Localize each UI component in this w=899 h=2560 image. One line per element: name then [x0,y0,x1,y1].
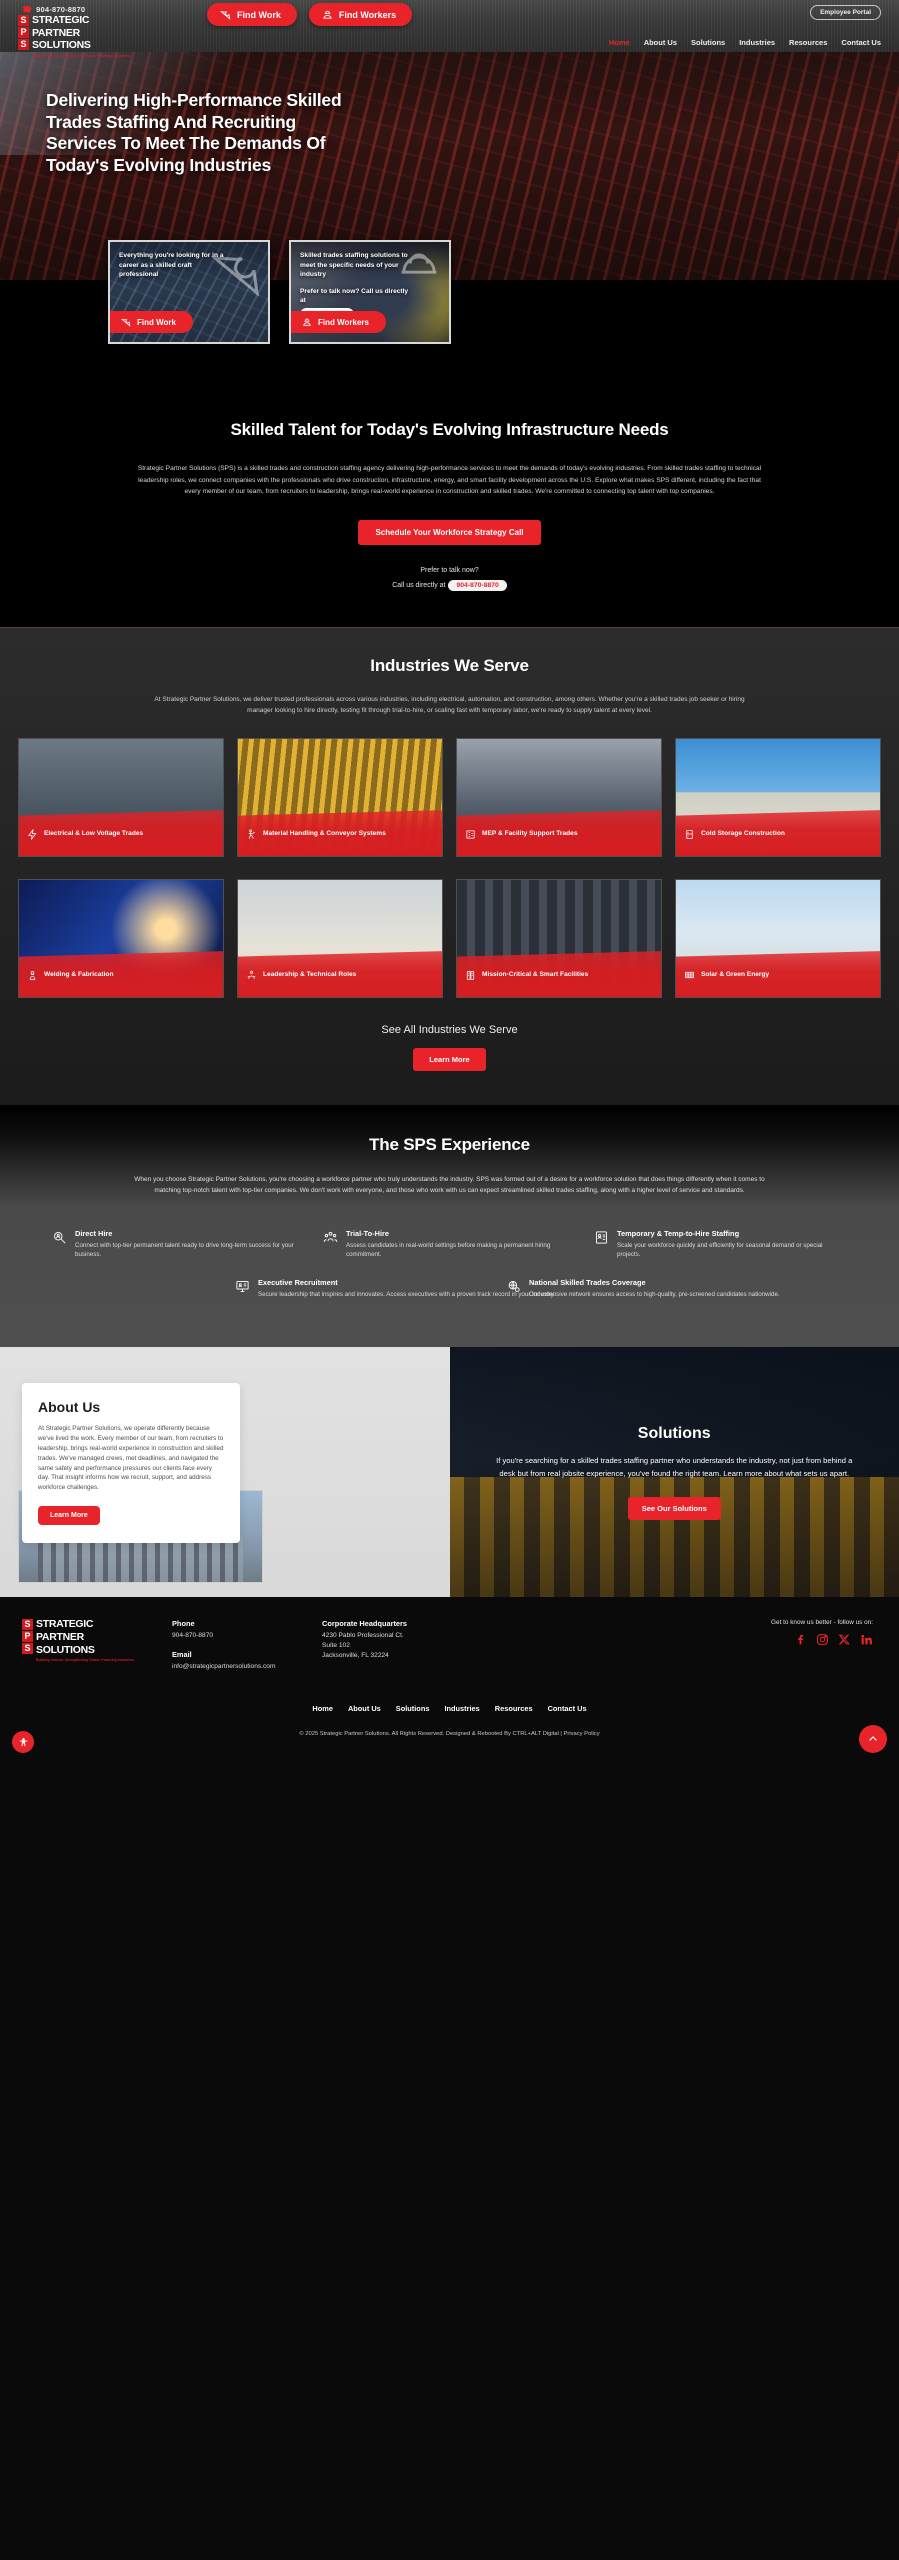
footer-logo-letter-s1: S [22,1619,33,1630]
header-phone-number: 904-870-8870 [36,5,85,14]
call-directly-label: Call us directly at [392,582,445,589]
services-grid-row-1: Direct Hire Connect with top-tier perman… [0,1197,899,1278]
industries-bottom-spacer [0,1071,899,1105]
about-panel: About Us At Strategic Partner Solutions,… [0,1347,450,1597]
person-hardhat-icon [322,9,333,20]
footer-hq-line1: 4230 Pablo Professional Ct. [322,1631,572,1641]
footer-social-label: Get to know us better - follow us on: [771,1619,873,1626]
wrench-icon [220,9,231,20]
industry-card-banner: Welding & Fabrication [19,951,223,997]
industry-card-label: Mission-Critical & Smart Facilities [482,971,588,980]
hero-cards-row: Everything you're looking for in a caree… [108,240,451,344]
primary-nav: Home About Us Solutions Industries Resou… [609,38,881,47]
service-desc: Our extensive network ensures access to … [529,1290,780,1300]
freezer-icon [684,829,695,840]
facebook-icon [794,1633,807,1646]
person-hardhat-icon [302,317,312,327]
nav-item-home[interactable]: Home [609,38,630,47]
footer-hq-line3: Jacksonville, FL 32224 [322,1651,572,1661]
industries-grid-row-2: Welding & Fabrication Leadership & Techn… [0,857,899,998]
footer-logo-wordmark: STRATEGIC PARTNER SOLUTIONS Building Car… [36,1619,135,1662]
solutions-body: If you're searching for a skilled trades… [490,1454,860,1480]
industry-card-banner: Electrical & Low Voltage Trades [19,810,223,856]
footer-nav-contact-us[interactable]: Contact Us [548,1704,587,1713]
instagram-icon [816,1633,829,1646]
industry-card-banner: Solar & Green Energy [676,951,880,997]
industries-grid-row-1: Electrical & Low Voltage Trades Material… [0,716,899,857]
logo-word-partner: PARTNER [32,28,131,40]
nav-item-about-us[interactable]: About Us [644,38,677,47]
skilled-talent-body: Strategic Partner Solutions (SPS) is a s… [130,463,770,498]
service-direct-hire: Direct Hire Connect with top-tier perman… [52,1229,305,1260]
magnifier-person-icon [52,1230,67,1245]
industry-card-electrical[interactable]: Electrical & Low Voltage Trades [18,738,224,857]
industry-card-leadership[interactable]: Leadership & Technical Roles [237,879,443,998]
see-all-industries-title: See All Industries We Serve [0,1024,899,1036]
service-title: Temporary & Temp-to-Hire Staffing [617,1229,847,1238]
sps-experience-body: When you choose Strategic Partner Soluti… [130,1174,770,1197]
schedule-strategy-call-button[interactable]: Schedule Your Workforce Strategy Call [358,520,540,545]
footer-hq-heading: Corporate Headquarters [322,1619,572,1629]
see-our-solutions-button[interactable]: See Our Solutions [628,1497,721,1520]
hero-cards-section: Everything you're looking for in a caree… [0,280,899,400]
skilled-talent-title: Skilled Talent for Today's Evolving Infr… [0,418,899,441]
industry-card-label: Cold Storage Construction [701,830,785,839]
logo-wordmark: STRATEGIC PARTNER SOLUTIONS Building Car… [32,15,131,58]
industry-card-mission-critical[interactable]: Mission-Critical & Smart Facilities [456,879,662,998]
site-footer: S P S STRATEGIC PARTNER SOLUTIONS Buildi… [0,1597,899,1763]
talk-now-block: Prefer to talk now? Call us directly at9… [0,563,899,593]
about-solutions-split: About Us At Strategic Partner Solutions,… [0,1347,899,1597]
industry-card-mep-facility[interactable]: MEP & Facility Support Trades [456,738,662,857]
footer-hq-line2: Suite 102 [322,1641,572,1651]
nav-item-solutions[interactable]: Solutions [691,38,725,47]
footer-copyright: © 2025 Strategic Partner Solutions. All … [0,1731,899,1763]
footer-email-value[interactable]: info@strategicpartnersolutions.com [172,1662,322,1672]
footer-logo-letter-s2: S [22,1643,33,1654]
service-trial-to-hire: Trial-To-Hire Assess candidates in real-… [323,1229,576,1260]
footer-nav-solutions[interactable]: Solutions [396,1704,430,1713]
service-desc: Scale your workforce quickly and efficie… [617,1241,847,1260]
hero-headline: Delivering High-Performance Skilled Trad… [46,90,366,176]
about-body: At Strategic Partner Solutions, we opera… [38,1424,224,1493]
service-title: National Skilled Trades Coverage [529,1278,780,1287]
industry-card-label: Material Handling & Conveyor Systems [263,830,386,839]
sps-experience-section: The SPS Experience When you choose Strat… [0,1105,899,1347]
group-people-icon [323,1230,338,1245]
industry-card-welding[interactable]: Welding & Fabrication [18,879,224,998]
footer-nav-about-us[interactable]: About Us [348,1704,381,1713]
industries-title: Industries We Serve [0,654,899,677]
about-title: About Us [38,1399,224,1415]
solutions-title: Solutions [638,1425,711,1443]
talk-now-line: Call us directly at904-870-8870 [0,578,899,593]
logo-letter-s2: S [18,39,29,50]
welder-icon [27,970,38,981]
industries-section: Industries We Serve At Strategic Partner… [0,627,899,1106]
footer-logo-word-solutions: SOLUTIONS [36,1645,135,1657]
chevron-up-icon [867,1733,879,1745]
industry-card-solar-green-energy[interactable]: Solar & Green Energy [675,879,881,998]
service-title: Direct Hire [75,1229,305,1238]
service-temporary-staffing: Temporary & Temp-to-Hire Staffing Scale … [594,1229,847,1260]
facebook-link[interactable] [794,1633,807,1651]
skilled-talent-section: Skilled Talent for Today's Evolving Infr… [0,400,899,627]
about-card: About Us At Strategic Partner Solutions,… [22,1383,240,1543]
solutions-panel: Solutions If you're searching for a skil… [450,1347,899,1597]
footer-nav-industries[interactable]: Industries [444,1704,479,1713]
industry-card-label: Leadership & Technical Roles [263,971,356,980]
industry-card-banner: MEP & Facility Support Trades [457,810,661,856]
service-national-coverage: National Skilled Trades Coverage Our ext… [506,1278,847,1300]
service-title: Trial-To-Hire [346,1229,576,1238]
industry-card-material-handling[interactable]: Material Handling & Conveyor Systems [237,738,443,857]
find-workers-card-headline: Skilled trades staffing solutions to mee… [300,251,412,280]
footer-email-heading: Email [172,1650,322,1660]
find-work-card[interactable]: Everything you're looking for in a caree… [108,240,270,344]
worker-lifting-icon [246,829,257,840]
industry-card-banner: Cold Storage Construction [676,810,880,856]
footer-top: S P S STRATEGIC PARTNER SOLUTIONS Buildi… [0,1619,899,1672]
industries-learn-more-button[interactable]: Learn More [413,1048,485,1071]
find-work-button[interactable]: Find Work [207,3,297,26]
industries-body: At Strategic Partner Solutions, we deliv… [145,694,755,717]
leadership-icon [246,970,257,981]
find-workers-card-button-label: Find Workers [318,318,369,327]
header-phone[interactable]: ☎ 904-870-8870 [22,5,85,14]
footer-logo[interactable]: S P S STRATEGIC PARTNER SOLUTIONS Buildi… [22,1619,172,1672]
footer-logo-tagline: Building Careers. Strengthening Teams. P… [36,1658,135,1662]
find-workers-card-subtext: Prefer to talk now? Call us directly at [300,287,412,305]
footer-nav-home[interactable]: Home [312,1704,333,1713]
linkedin-icon [860,1633,873,1646]
industry-card-label: Electrical & Low Voltage Trades [44,830,143,839]
talent-phone-chip[interactable]: 904-870-8870 [448,580,506,591]
linkedin-link[interactable] [860,1633,873,1651]
footer-contact-column: Phone 904-870-8870 Email info@strategicp… [172,1619,322,1672]
x-twitter-link[interactable] [838,1633,851,1651]
industry-card-label: MEP & Facility Support Trades [482,830,578,839]
industry-card-banner: Mission-Critical & Smart Facilities [457,951,661,997]
data-center-icon [465,970,476,981]
resume-list-icon [594,1230,609,1245]
monitor-person-icon [235,1279,250,1294]
logo-word-strategic: STRATEGIC [32,15,131,27]
find-workers-label: Find Workers [339,10,396,20]
find-work-card-text: Everything you're looking for in a caree… [119,251,231,280]
industry-card-cold-storage[interactable]: Cold Storage Construction [675,738,881,857]
find-work-card-button[interactable]: Find Work [109,311,193,333]
service-desc: Assess candidates in real-world settings… [346,1241,576,1260]
header-cta-group: Find Work Find Workers [207,3,412,26]
services-grid-row-2: Executive Recruitment Secure leadership … [0,1278,899,1318]
logo-letter-p: P [18,27,29,38]
industry-card-banner: Leadership & Technical Roles [238,951,442,997]
find-workers-button[interactable]: Find Workers [309,3,412,26]
x-twitter-icon [838,1633,851,1646]
site-logo[interactable]: S P S STRATEGIC PARTNER SOLUTIONS Buildi… [18,15,131,58]
accessibility-icon [18,1737,29,1748]
employee-portal-button[interactable]: Employee Portal [810,5,881,20]
footer-phone-value[interactable]: 904-870-8870 [172,1631,322,1641]
footer-logo-word-strategic: STRATEGIC [36,1619,135,1631]
find-work-card-button-label: Find Work [137,318,176,327]
solar-panel-icon [684,970,695,981]
nav-item-resources[interactable]: Resources [789,38,827,47]
industry-card-label: Welding & Fabrication [44,971,113,980]
service-desc: Connect with top-tier permanent talent r… [75,1241,305,1260]
footer-logo-word-partner: PARTNER [36,1632,135,1644]
footer-nav: Home About Us Solutions Industries Resou… [0,1704,899,1713]
logo-letter-s1: S [18,15,29,26]
footer-logo-letter-p: P [22,1631,33,1642]
logo-word-solutions: SOLUTIONS [32,40,131,52]
talk-now-prompt: Prefer to talk now? [0,563,899,578]
logo-tagline: Building Careers. Strengthening Teams. P… [32,54,131,58]
site-header: ☎ 904-870-8870 S P S STRATEGIC PARTNER S… [0,0,899,52]
industry-card-label: Solar & Green Energy [701,971,769,980]
find-workers-card[interactable]: Skilled trades staffing solutions to mee… [289,240,451,344]
find-work-label: Find Work [237,10,281,20]
footer-nav-resources[interactable]: Resources [495,1704,533,1713]
footer-social-icons [771,1633,873,1651]
footer-social-column: Get to know us better - follow us on: [771,1619,877,1672]
bolt-icon [27,829,38,840]
building-gear-icon [465,829,476,840]
sps-experience-title: The SPS Experience [0,1133,899,1156]
about-learn-more-button[interactable]: Learn More [38,1506,100,1525]
nav-item-contact-us[interactable]: Contact Us [841,38,881,47]
footer-logo-letter-stack: S P S [22,1619,33,1662]
find-workers-card-button[interactable]: Find Workers [290,311,386,333]
globe-person-icon [506,1279,521,1294]
wrench-icon [121,317,131,327]
instagram-link[interactable] [816,1633,829,1651]
industry-card-banner: Material Handling & Conveyor Systems [238,810,442,856]
logo-letter-stack: S P S [18,15,29,58]
see-all-industries-block: See All Industries We Serve Learn More [0,998,899,1071]
footer-phone-heading: Phone [172,1619,322,1629]
footer-hq-column: Corporate Headquarters 4230 Pablo Profes… [322,1619,572,1672]
nav-item-industries[interactable]: Industries [739,38,775,47]
